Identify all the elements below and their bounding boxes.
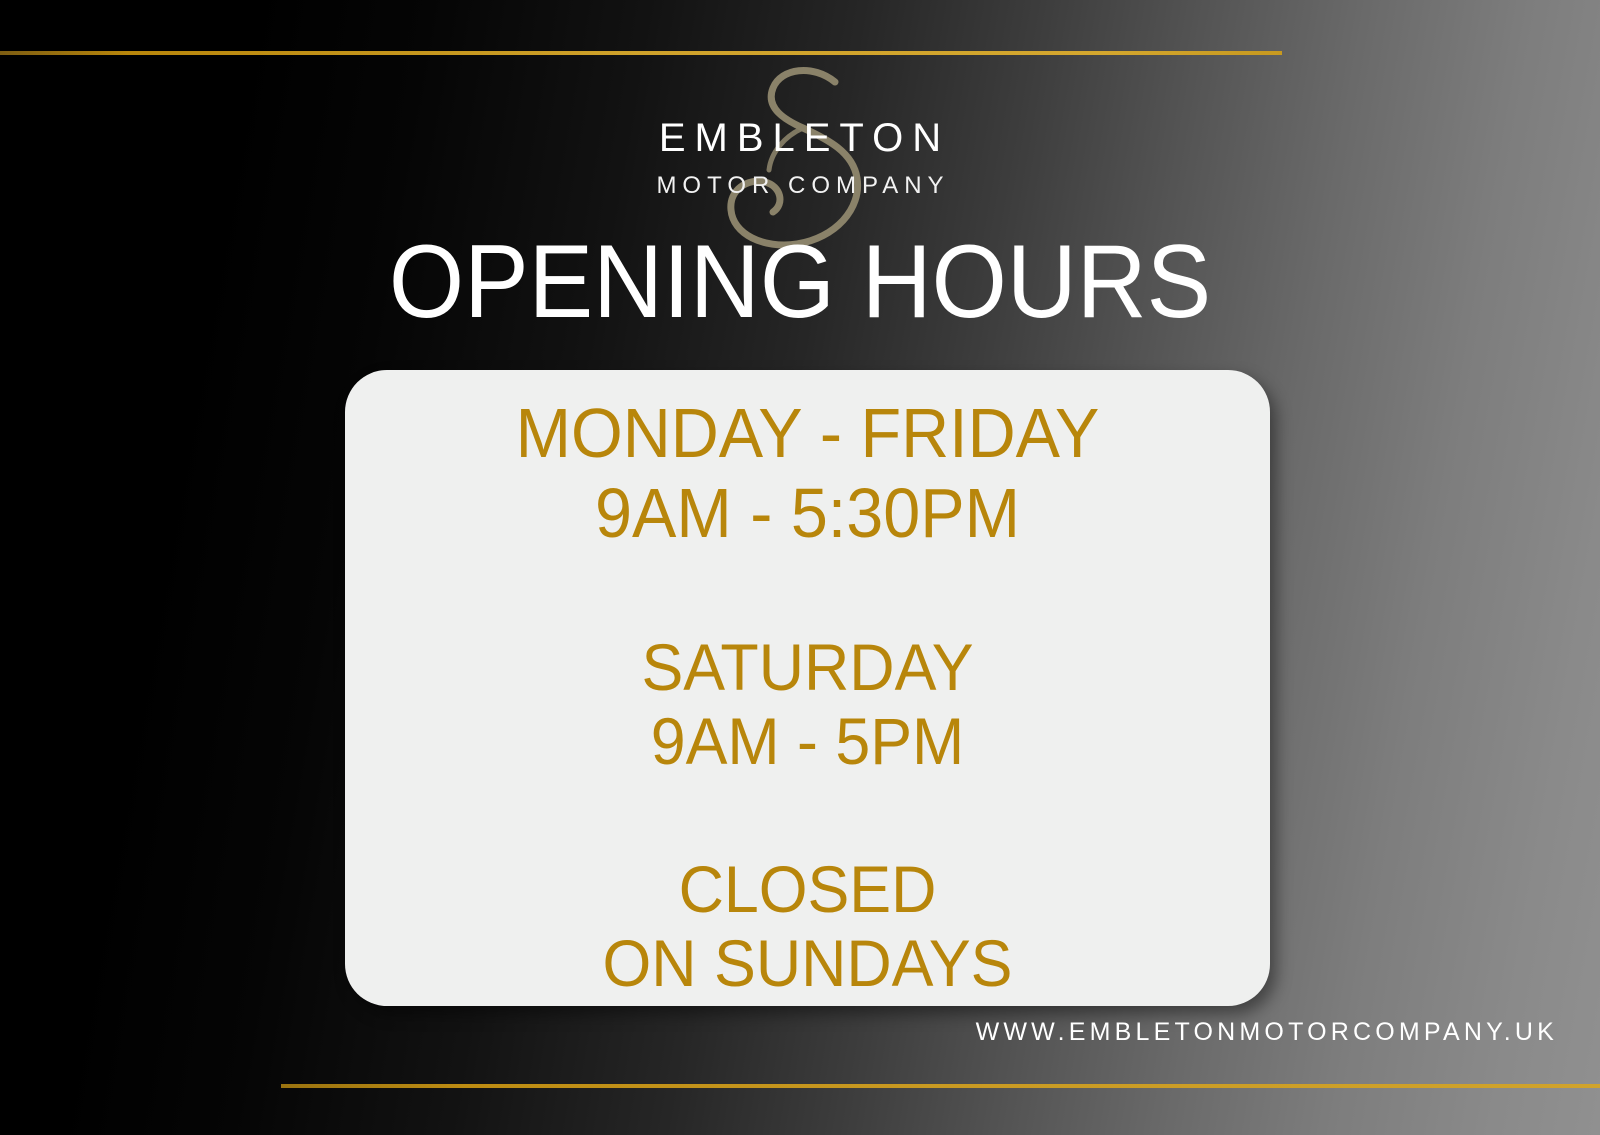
hours-group-weekday: MONDAY - FRIDAY 9AM - 5:30PM <box>385 398 1230 548</box>
bottom-gold-rule <box>281 1084 1600 1088</box>
weekday-days-label: MONDAY - FRIDAY <box>406 398 1209 468</box>
opening-hours-card: MONDAY - FRIDAY 9AM - 5:30PM SATURDAY 9A… <box>345 370 1270 1006</box>
sunday-days-label: ON SUNDAYS <box>406 930 1209 996</box>
hours-group-saturday: SATURDAY 9AM - 5PM <box>385 634 1230 774</box>
brand-tagline: MOTOR COMPANY <box>650 174 949 198</box>
hours-group-sunday: CLOSED ON SUNDAYS <box>385 856 1230 996</box>
weekday-hours-label: 9AM - 5:30PM <box>406 478 1209 548</box>
saturday-hours-label: 9AM - 5PM <box>406 708 1209 774</box>
sunday-closed-label: CLOSED <box>406 856 1209 922</box>
page-title: OPENING HOURS <box>56 228 1544 337</box>
website-url[interactable]: WWW.EMBLETONMOTORCOMPANY.UK <box>976 1018 1558 1047</box>
opening-hours-poster: EMBLETON MOTOR COMPANY OPENING HOURS MON… <box>0 0 1600 1135</box>
top-gold-rule <box>0 51 1282 55</box>
saturday-days-label: SATURDAY <box>406 634 1209 700</box>
brand-name: EMBLETON <box>650 118 950 158</box>
brand-logo: EMBLETON MOTOR COMPANY <box>0 68 1600 228</box>
